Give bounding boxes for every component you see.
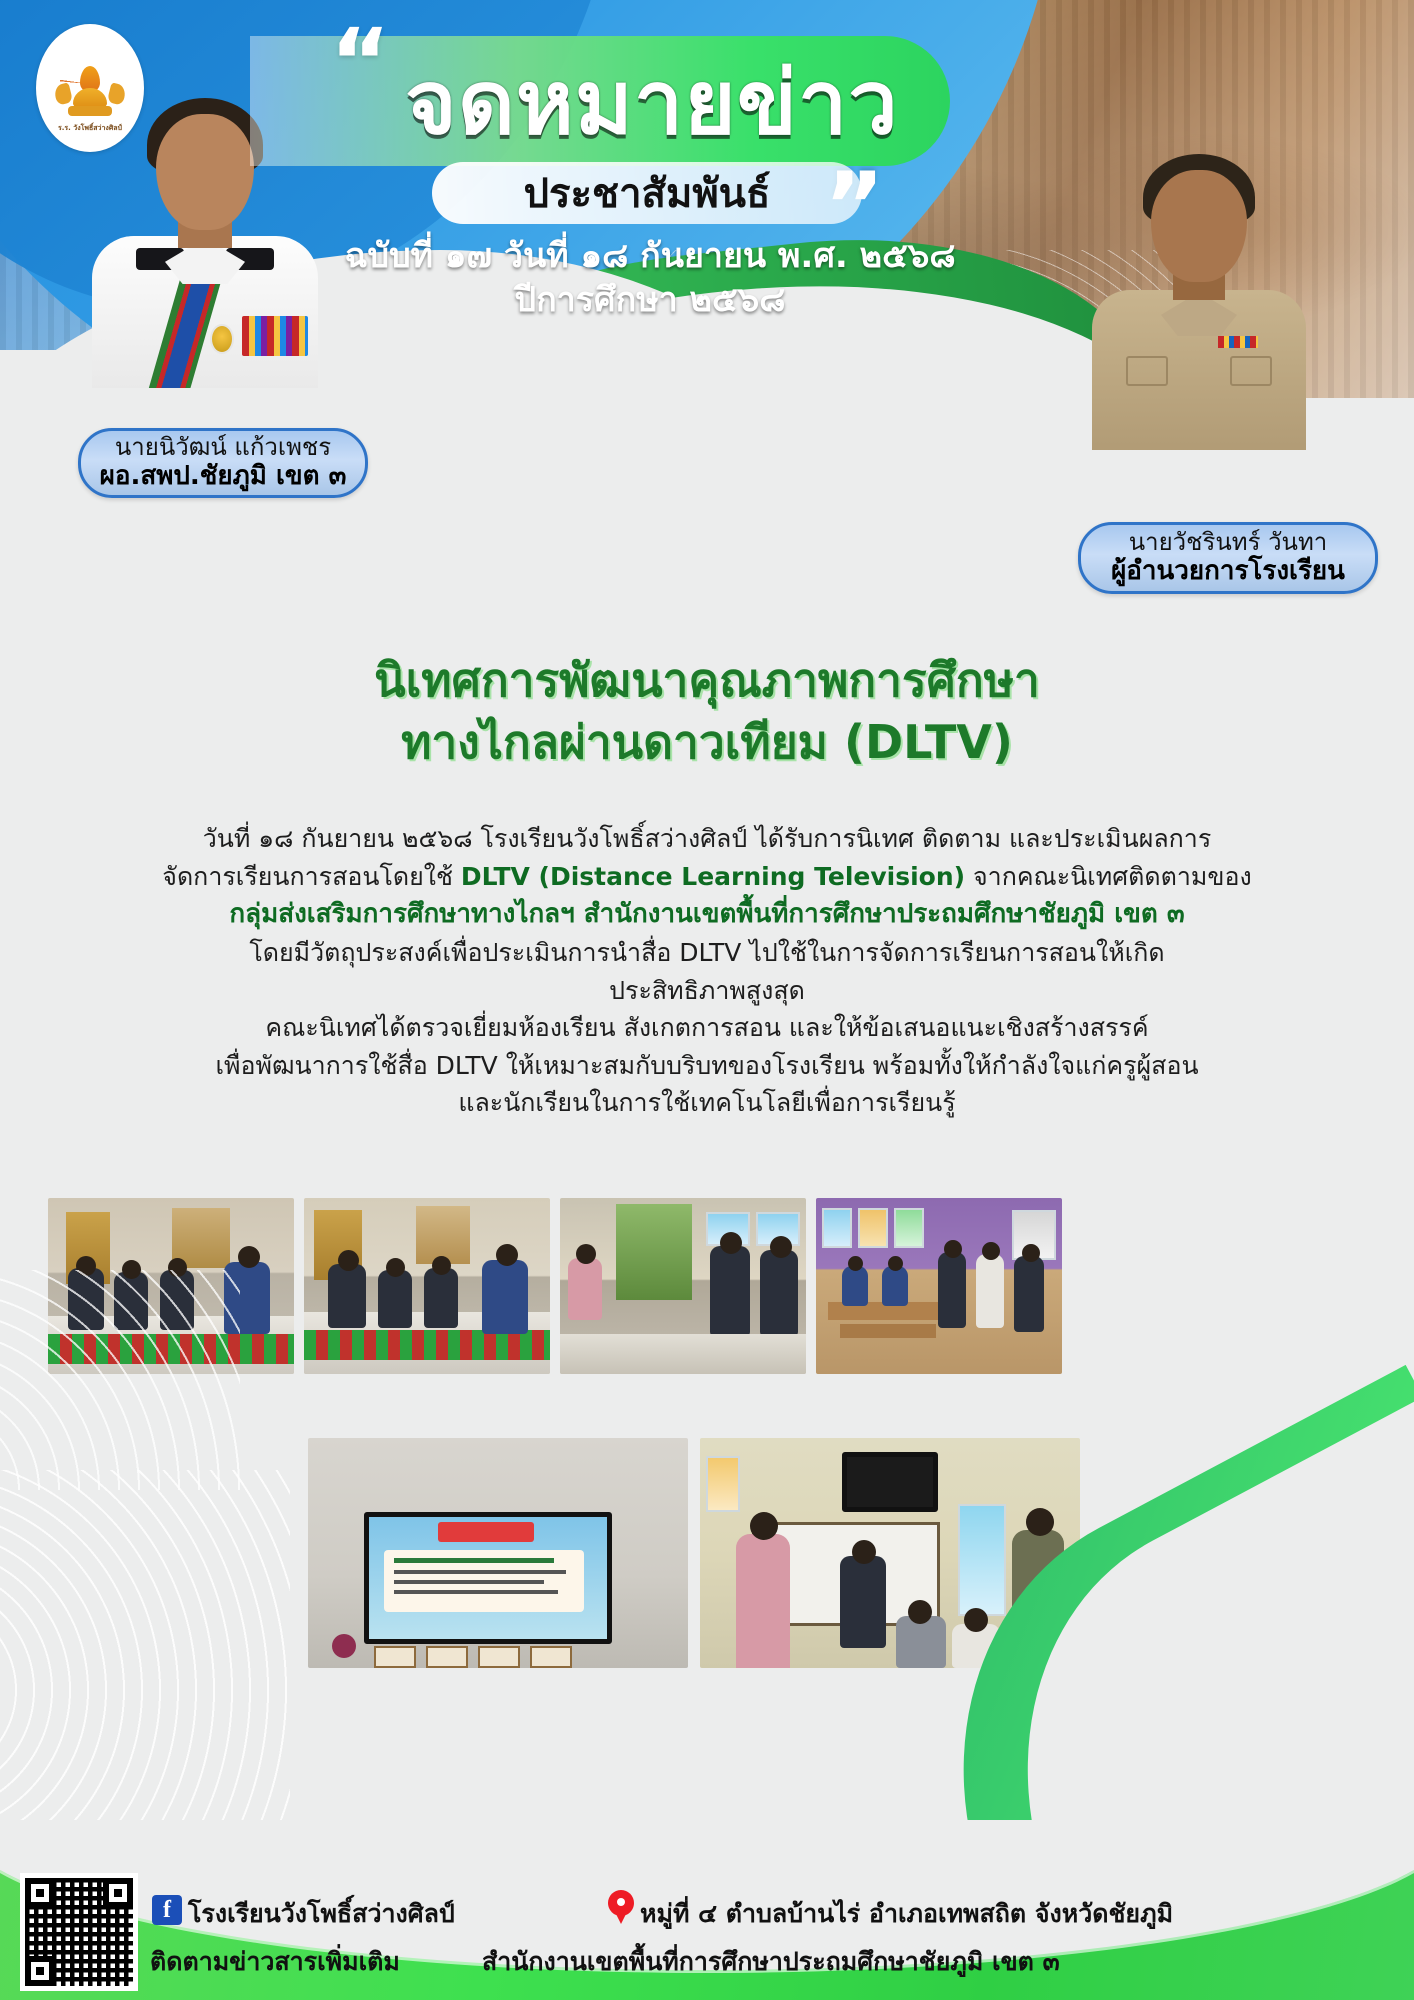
badge-left-name: นายนิวัฒน์ แก้วเพชร xyxy=(115,434,331,462)
qr-eye-top-right xyxy=(103,1878,133,1908)
photo-tv-dltv-lesson xyxy=(308,1438,688,1668)
portrait-right-ribbon-badge xyxy=(1218,336,1258,348)
footer-office: สำนักงานเขตพื้นที่การศึกษาประถมศึกษาชัยภ… xyxy=(482,1942,1060,1982)
body-line-6: คณะนิเทศได้ตรวจเยี่ยมห้องเรียน สังเกตการ… xyxy=(70,1009,1344,1047)
portrait-left-face xyxy=(156,114,254,230)
logo-wing-left xyxy=(53,82,73,105)
body-line-2-post: จากคณะนิเทศติดตามของ xyxy=(965,862,1252,891)
qr-eye-bottom-left xyxy=(25,1956,55,1986)
body-dltv-emphasis: DLTV (Distance Learning Television) xyxy=(461,862,965,891)
photo-grid-row-2 xyxy=(308,1438,1108,1668)
body-line-4: โดยมีวัตถุประสงค์เพื่อประเมินการนำสื่อ D… xyxy=(70,934,1344,972)
photo-classroom-visit xyxy=(560,1198,806,1374)
swirl-decoration-top xyxy=(0,1270,240,1490)
newsletter-poster: ร.ร. วังโพธิ์สว่างศิลป์ xyxy=(0,0,1414,2000)
body-line-5: ประสิทธิภาพสูงสุด xyxy=(70,972,1344,1010)
portrait-left-ribbons xyxy=(242,316,308,356)
body-line-7: เพื่อพัฒนาการใช้สื่อ DLTV ให้เหมาะสมกับบ… xyxy=(70,1047,1344,1085)
qr-code-pattern xyxy=(25,1878,133,1986)
pin-hole xyxy=(617,1898,625,1906)
photo-purple-classroom xyxy=(816,1198,1062,1374)
body-line-2: จัดการเรียนการสอนโดยใช้ DLTV (Distance L… xyxy=(70,858,1344,896)
name-badge-right: นายวัชรินทร์ วันทา ผู้อำนวยการโรงเรียน xyxy=(1078,522,1378,594)
location-pin-icon xyxy=(608,1890,634,1924)
body-line-2-pre: จัดการเรียนการสอนโดยใช้ xyxy=(162,862,461,891)
portrait-right-pocket-right xyxy=(1230,356,1272,386)
qr-eye-top-left xyxy=(25,1878,55,1908)
body-line-8: และนักเรียนในการใช้เทคโนโลยีเพื่อการเรีย… xyxy=(70,1084,1344,1122)
article-headline: นิเทศการพัฒนาคุณภาพการศึกษา ทางไกลผ่านดา… xyxy=(0,650,1414,773)
qr-code[interactable] xyxy=(20,1873,138,1991)
facebook-icon[interactable]: f xyxy=(152,1895,182,1925)
headline-line-2: ทางไกลผ่านดาวเทียม (DLTV) xyxy=(0,712,1414,774)
badge-right-name: นายวัชรินทร์ วันทา xyxy=(1129,529,1328,557)
header-banner: ร.ร. วังโพธิ์สว่างศิลป์ xyxy=(0,0,1414,460)
photo-meeting-room-2 xyxy=(304,1198,550,1374)
page-subtitle: ประชาสัมพันธ์ xyxy=(432,164,862,222)
portrait-school-director xyxy=(1092,150,1306,450)
headline-line-1: นิเทศการพัฒนาคุณภาพการศึกษา xyxy=(0,650,1414,712)
badge-left-role: ผอ.สพป.ชัยภูมิ เขต ๓ xyxy=(100,462,347,492)
portrait-right-pocket-left xyxy=(1126,356,1168,386)
body-line-3: กลุ่มส่งเสริมการศึกษาทางไกลฯ สำนักงานเขต… xyxy=(70,895,1344,934)
body-line-1: วันที่ ๑๘ กันยายน ๒๕๖๘ โรงเรียนวังโพธิ์ส… xyxy=(70,820,1344,858)
article-body: วันที่ ๑๘ กันยายน ๒๕๖๘ โรงเรียนวังโพธิ์ส… xyxy=(70,820,1344,1122)
footer-address: หมู่ที่ ๔ ตำบลบ้านไร่ อำเภอเทพสถิต จังหว… xyxy=(640,1894,1173,1934)
name-badge-left: นายนิวัฒน์ แก้วเพชร ผอ.สพป.ชัยภูมิ เขต ๓ xyxy=(78,428,368,498)
portrait-left-medal xyxy=(210,324,234,354)
badge-right-role: ผู้อำนวยการโรงเรียน xyxy=(1111,557,1345,587)
academic-year-line: ปีการศึกษา ๒๕๖๘ xyxy=(300,272,1000,326)
footer-follow-text: ติดตามข่าวสารเพิ่มเติม xyxy=(150,1942,400,1982)
photo-grid-row-1 xyxy=(48,1198,1368,1374)
footer-school-name: โรงเรียนวังโพธิ์สว่างศิลป์ xyxy=(188,1894,455,1934)
portrait-right-face xyxy=(1151,170,1247,282)
pin-tip xyxy=(613,1908,629,1924)
